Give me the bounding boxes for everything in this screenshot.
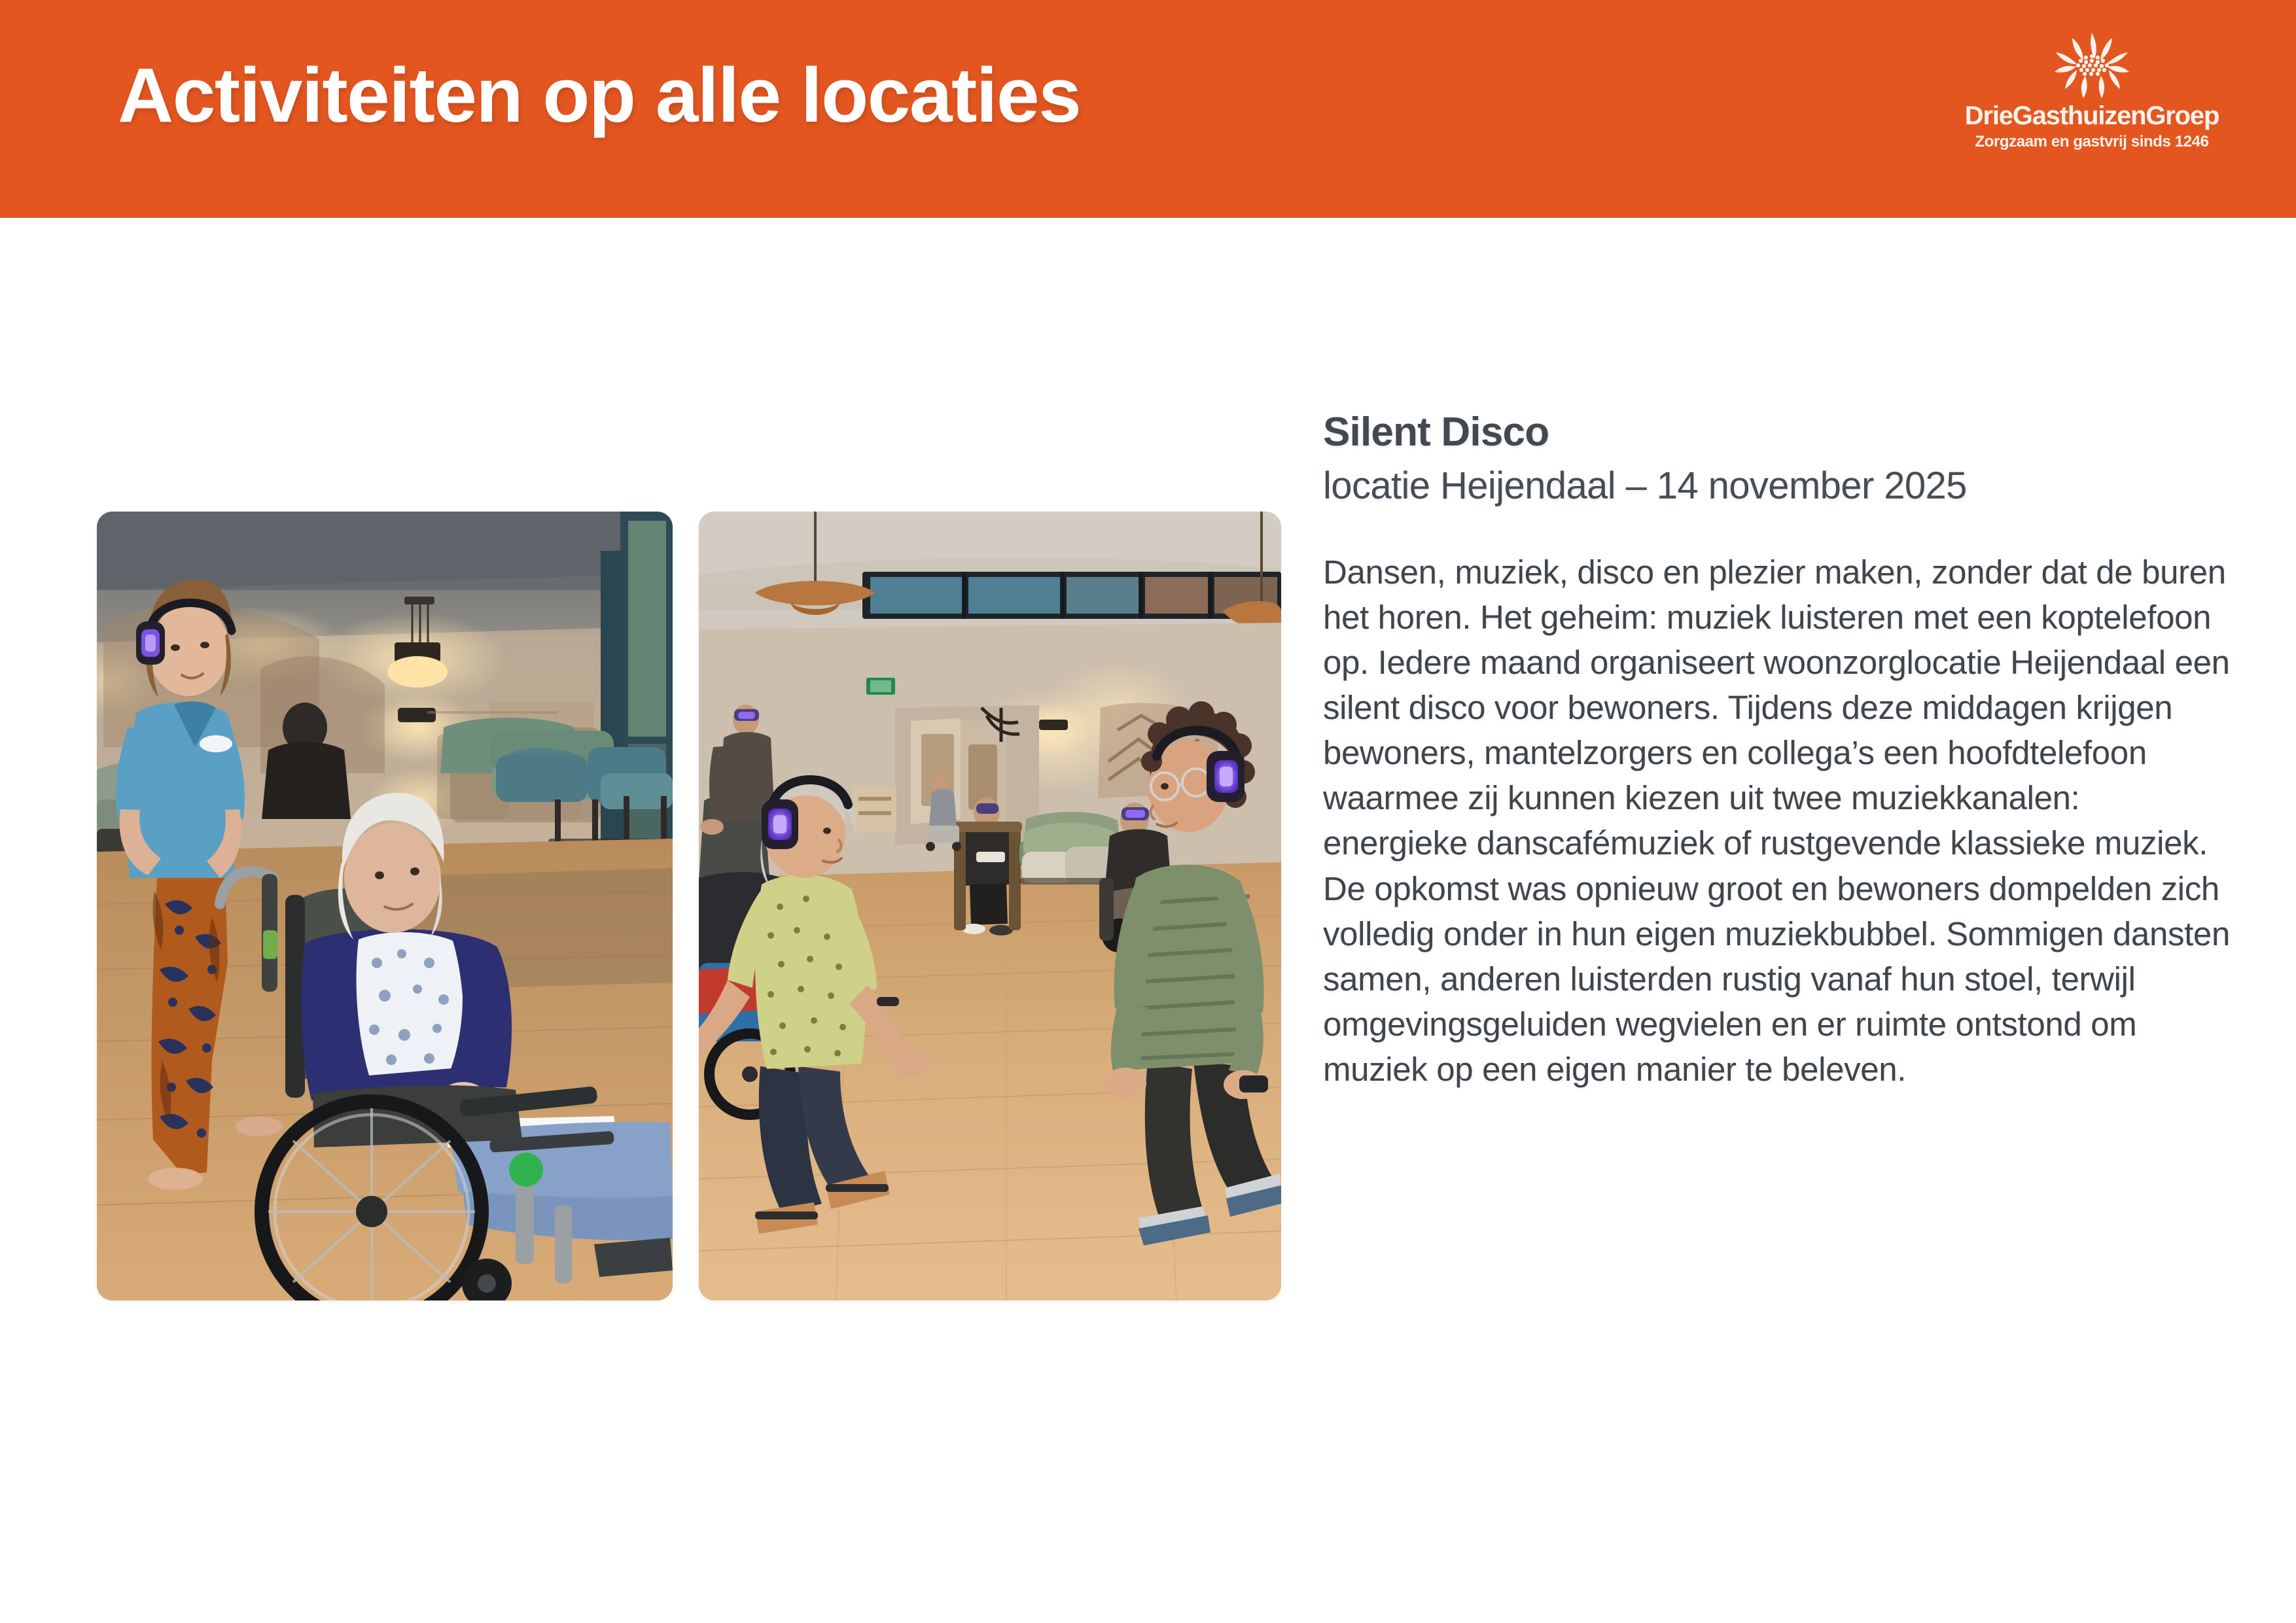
flower-icon bbox=[2052, 31, 2132, 99]
article-subtitle: locatie Heijendaal – 14 november 2025 bbox=[1323, 464, 2233, 508]
logo-tagline: Zorgzaam en gastvrij sinds 1246 bbox=[1975, 133, 2208, 152]
logo-wordmark: DrieGasthuizenGroep bbox=[1965, 102, 2219, 130]
page-header: Activiteiten op alle locaties bbox=[0, 0, 2296, 218]
article-block: Silent Disco locatie Heijendaal – 14 nov… bbox=[1323, 410, 2233, 1092]
organisation-logo: DrieGasthuizenGroep Zorgzaam en gastvrij… bbox=[1961, 31, 2223, 152]
photo-caregiver-wheelchair bbox=[97, 512, 673, 1300]
page-title: Activiteiten op alle locaties bbox=[118, 55, 1080, 137]
photo-dancing-residents bbox=[699, 512, 1281, 1300]
article-title: Silent Disco bbox=[1323, 410, 2233, 455]
article-body: Dansen, muziek, disco en plezier maken, … bbox=[1323, 550, 2233, 1092]
